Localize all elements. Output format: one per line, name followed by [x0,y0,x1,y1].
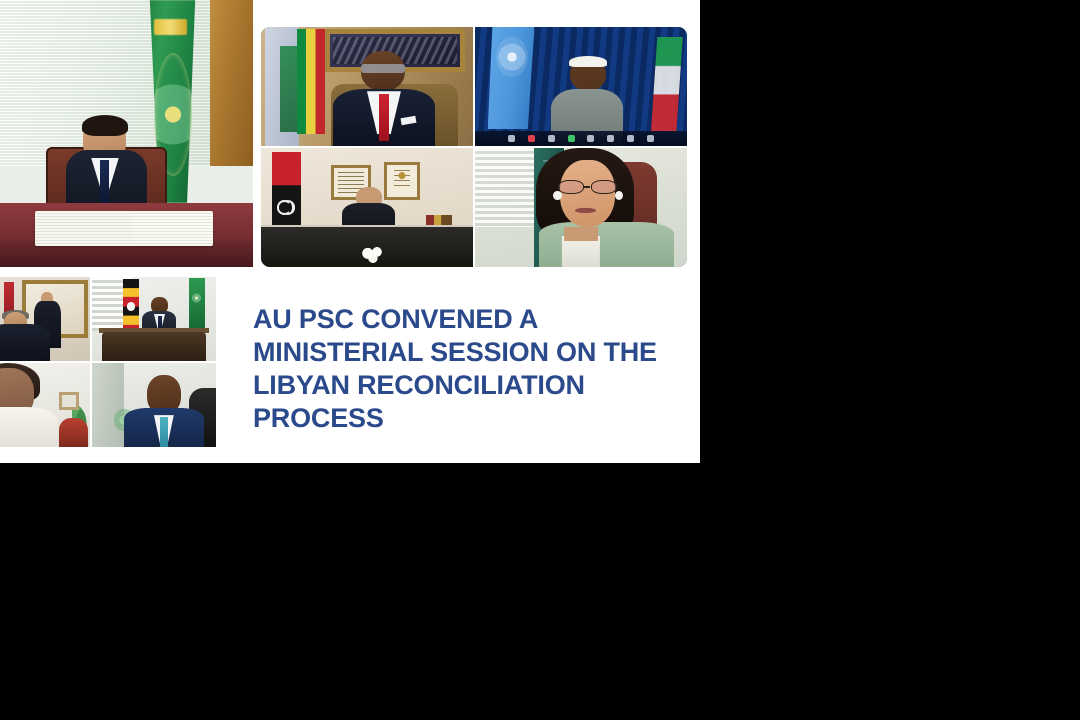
tile3-flowers [359,246,389,267]
tile1-glasses-icon [361,64,406,74]
flag-gold-band [154,19,187,35]
glasses-icon [558,180,617,194]
strip3-chair [59,418,88,447]
glasses-lens-right [591,180,617,194]
participant-tie [100,160,109,203]
video-call-toolbar[interactable] [475,131,687,146]
participants-strip[interactable] [0,277,216,447]
tile2-white-cap [569,56,607,68]
reactions-icon[interactable] [627,135,634,142]
camera-off-icon[interactable] [528,135,535,142]
strip1-name-label [0,351,41,361]
video-tile-1[interactable] [261,27,473,146]
wood-panel [210,0,253,166]
microphone-icon[interactable] [508,135,515,142]
strip3-wall-picture [59,392,79,410]
video-conference-grid[interactable] [261,27,687,267]
strip-tile-4[interactable] [92,363,216,447]
crescent-star-icon [277,200,292,214]
hero-photo-scene [0,0,253,267]
video-tile-2[interactable] [475,27,687,146]
glasses-lens-left [558,180,584,194]
article-card: AU PSC CONVENED A MINISTERIAL SESSION ON… [0,0,700,463]
strip-tile-3[interactable] [0,363,90,447]
tile4-cardigan [539,222,675,267]
strip2-podium [102,332,206,361]
un-emblem-icon [496,37,528,77]
tile3-framed-certificate-2 [384,162,420,200]
strip-tile-1[interactable] [0,277,90,361]
chat-icon[interactable] [587,135,594,142]
strip3-clothing [0,407,58,447]
uganda-crest-icon [127,302,136,310]
more-options-icon[interactable] [647,135,654,142]
video-tile-3[interactable] [261,148,473,267]
strip-tile-2[interactable] [92,277,216,361]
tile1-secondary-flag [280,46,297,132]
video-tile-4[interactable] [475,148,687,267]
share-screen-icon[interactable] [568,135,575,142]
glasses-bridge [584,186,590,188]
strip4-wall-panel [92,363,124,447]
record-icon[interactable] [607,135,614,142]
tile1-red-tie [379,94,390,142]
tile1-national-flag [297,29,325,134]
participant-hair [82,115,128,136]
hero-photo[interactable] [0,0,253,267]
article-headline: AU PSC CONVENED A MINISTERIAL SESSION ON… [253,303,673,435]
open-book [132,214,213,243]
participants-icon[interactable] [548,135,555,142]
strip4-teal-tie [160,417,167,447]
tile4-neck [564,227,598,241]
